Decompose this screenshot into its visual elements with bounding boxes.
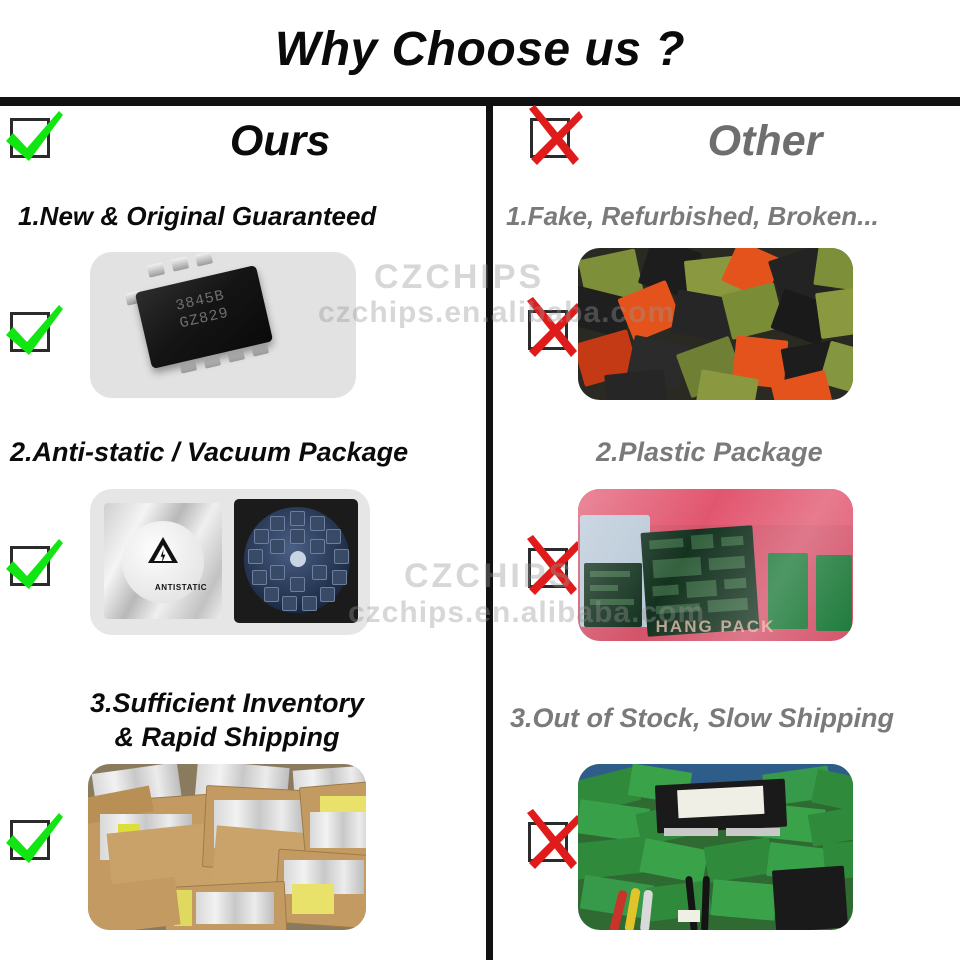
row3-check-mark [10, 820, 50, 860]
plastic-bag-print: HANG PACK [578, 617, 853, 637]
header-divider-line [0, 97, 960, 106]
black-module [655, 779, 787, 834]
plastic-package-photo: HANG PACK [578, 489, 853, 641]
column-check-mark-ours [10, 118, 50, 158]
row1-label-ours: 1.New & Original Guaranteed [18, 202, 376, 231]
why-choose-us-poster: Why Choose us ? Ours Other 1.New & Origi… [0, 0, 960, 960]
scrap-pcb-photo [578, 764, 853, 930]
row3-cross-mark [528, 822, 568, 862]
row1-label-other: 1.Fake, Refurbished, Broken... [506, 202, 879, 231]
row2-cross-mark [528, 548, 568, 588]
row3-label-other: 3.Out of Stock, Slow Shipping [510, 703, 894, 733]
page-title: Why Choose us ? [0, 22, 960, 77]
column-divider-line [486, 106, 493, 960]
inventory-boxes-photo [88, 764, 366, 930]
column-cross-mark-other [530, 118, 570, 158]
row2-check-mark [10, 546, 50, 586]
watermark-brand-top: CZCHIPS [374, 258, 544, 297]
row1-cross-mark [528, 310, 568, 350]
row1-check-mark [10, 312, 50, 352]
row2-label-ours: 2.Anti-static / Vacuum Package [10, 437, 408, 467]
antistatic-bag-label: ANTISTATIC [122, 583, 240, 592]
column-header-ours: Ours [100, 110, 460, 172]
row2-label-other: 2.Plastic Package [596, 437, 823, 467]
row3-label-ours-line1: 3.Sufficient Inventory [62, 688, 392, 718]
antistatic-package-photo: ANTISTATIC [90, 489, 370, 635]
chip-photo: 3845B GZ829 [90, 252, 356, 398]
scrap-chips-photo [578, 248, 853, 400]
row3-label-ours-line2: & Rapid Shipping [62, 722, 392, 752]
column-header-other: Other [600, 110, 930, 172]
antistatic-foil-bag: ANTISTATIC [104, 503, 222, 619]
tape-reel-box [234, 499, 358, 623]
